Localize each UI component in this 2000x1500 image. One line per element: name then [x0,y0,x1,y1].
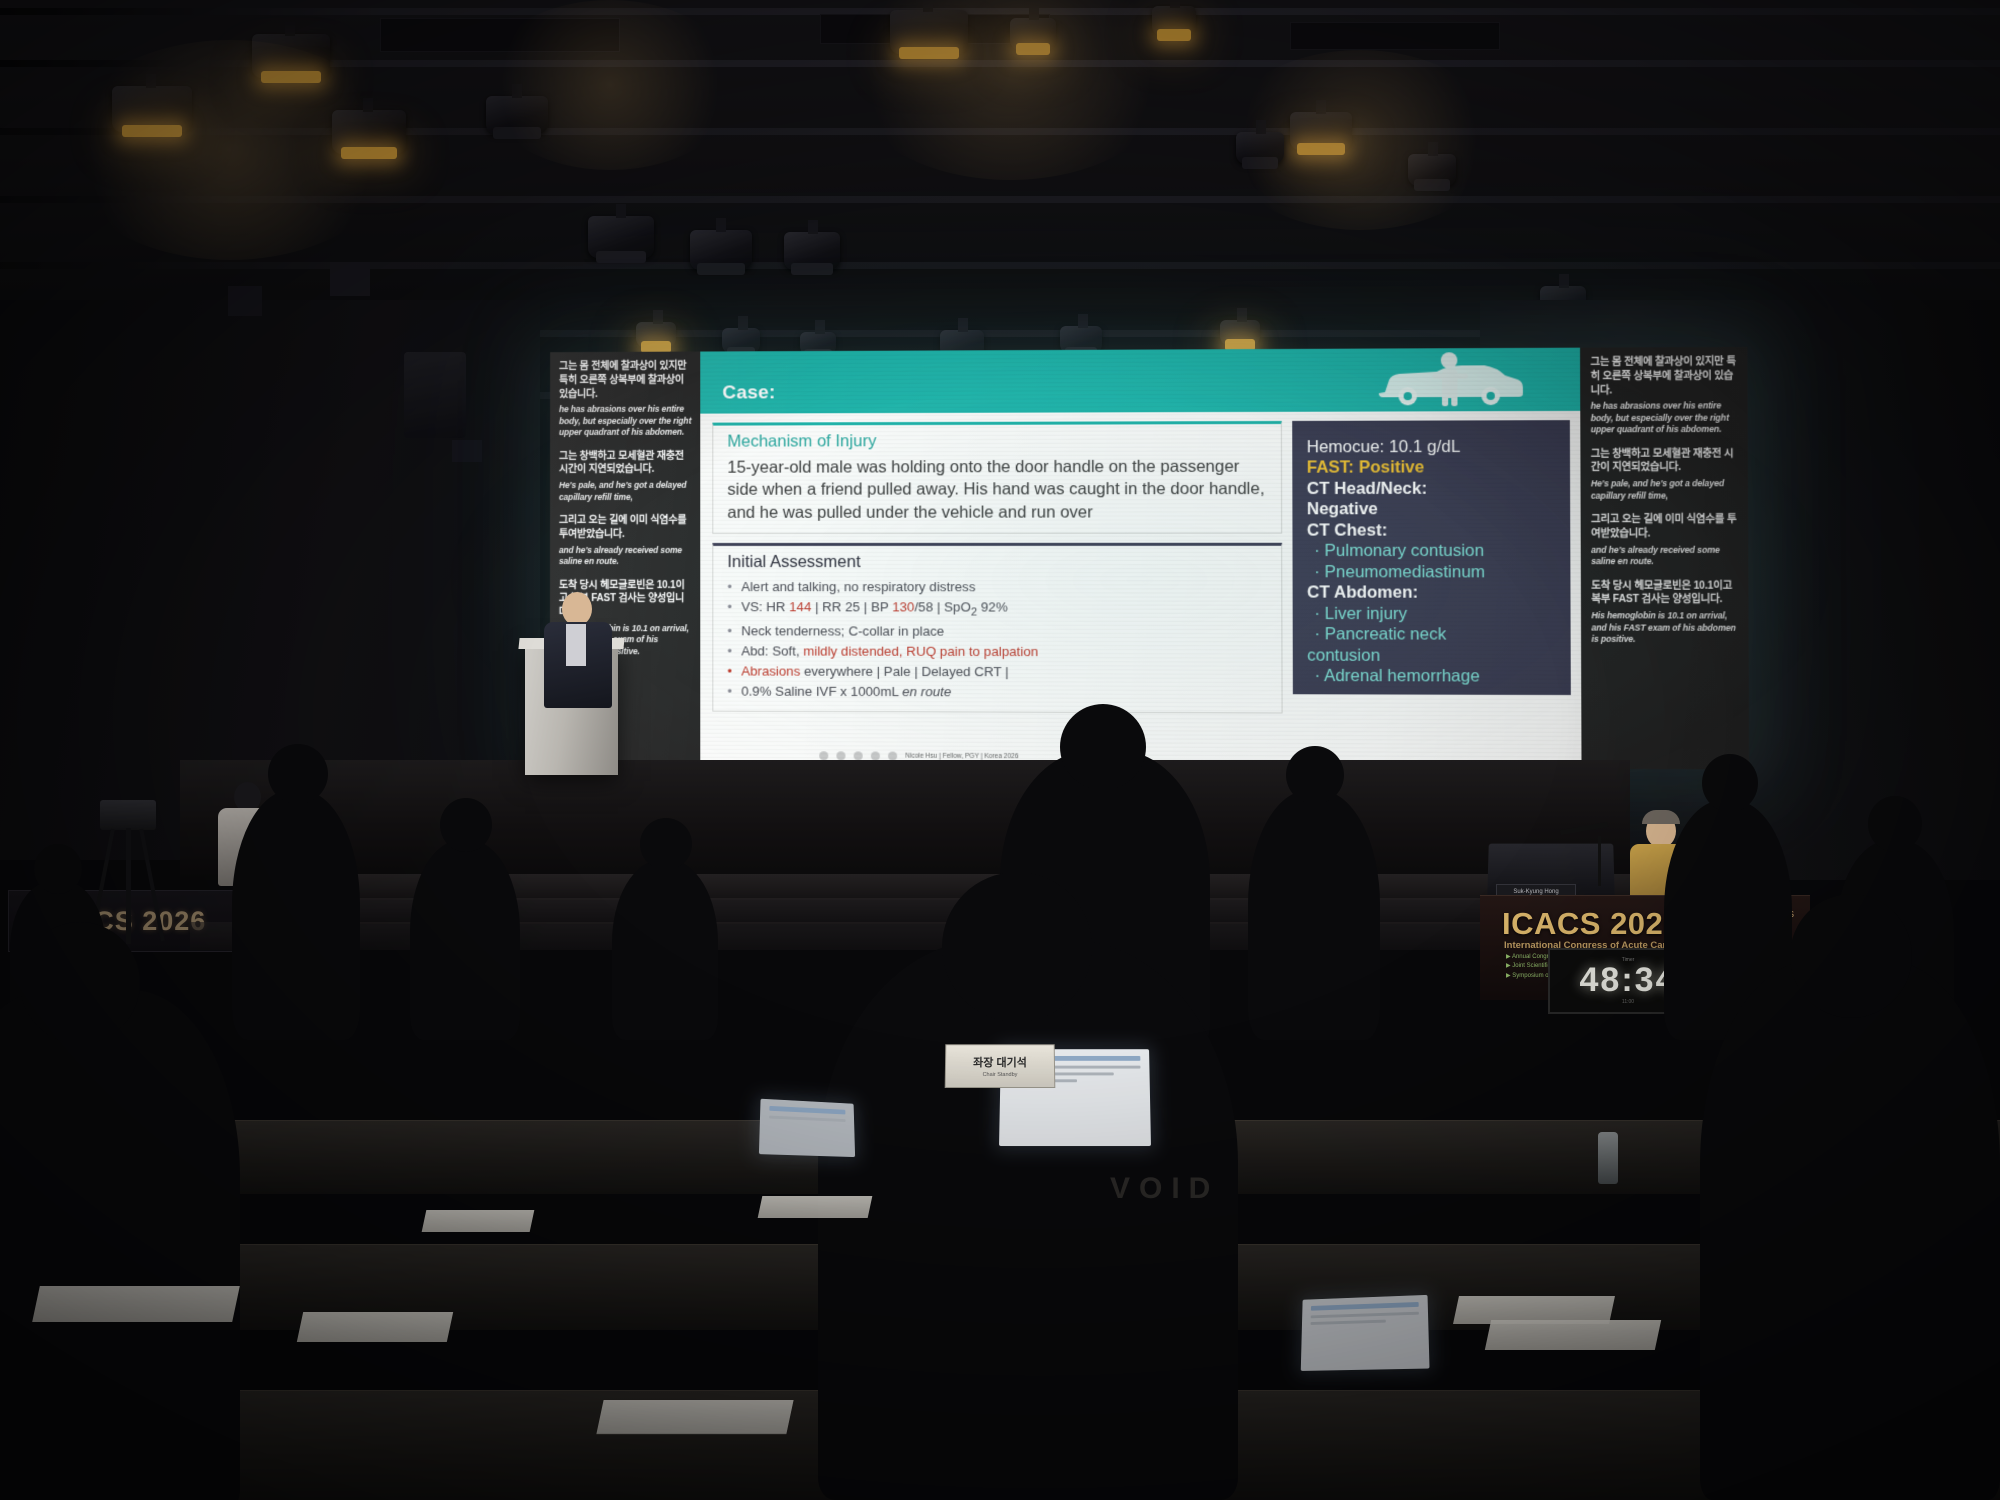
assessment-item: •Abrasions everywhere | Pale | Delayed C… [727,661,1269,683]
stage-spotlight [636,322,676,348]
finding-line: FAST: Positive [1307,457,1560,478]
caption-block: 그는 창백하고 모세혈관 재충전 시간이 지연되었습니다. He's pale,… [1591,447,1741,502]
car-pedestrian-icon [1372,351,1526,414]
desk-paper [297,1312,453,1342]
chair-standby-sign: 좌장 대기석 Chair Standby [945,1044,1056,1088]
assessment-title: Initial Assessment [727,553,1268,572]
imaging-findings-panel: Hemocue: 10.1 g/dLFAST: PositiveCT Head/… [1292,420,1571,695]
assessment-item: •VS: HR 144 | RR 25 | BP 130/58 | SpO2 9… [727,598,1269,622]
mechanism-card: Mechanism of Injury 15-year-old male was… [712,421,1282,534]
footer-icon [871,751,880,760]
audience-member [1248,790,1380,1040]
footer-icon [836,751,845,760]
stage-spotlight [1220,320,1260,346]
presentation-slide: Case: Me [700,348,1581,769]
mechanism-title: Mechanism of Injury [727,431,1268,452]
bullet-icon: • [727,641,732,661]
stage-spotlight [784,232,840,270]
stage-spotlight [1408,154,1456,186]
audience-member-foreground [0,990,240,1500]
finding-line: CT Chest: [1307,520,1560,541]
assessment-item: •Neck tenderness; C-collar in place [727,621,1269,642]
tripod-leg [126,828,131,944]
auditorium-room: ICACS 2026 ICACS 2026 그는 몸 전체에 찰과상이 있지만 … [0,0,2000,1500]
audience-member-head [640,818,692,870]
caption-korean: 그리고 오는 길에 이미 식염수를 투여받았습니다. [1591,513,1741,541]
footer-icon [888,751,897,760]
stage-spotlight [252,34,330,78]
finding-line: CT Head/Neck: [1307,478,1560,499]
finding-line: · Pancreatic neck [1307,624,1560,645]
audience-laptop[interactable] [1301,1295,1430,1371]
stage-spotlight [722,328,760,354]
audience-member-foreground [818,940,1238,1500]
desk-paper [596,1400,793,1434]
stage-spotlight [1290,112,1352,150]
speaker-array [404,352,466,438]
bullet-icon: • [727,661,732,681]
audience-member-head [268,744,328,804]
assessment-item-text: VS: HR 144 | RR 25 | BP 130/58 | SpO2 92… [741,598,1008,622]
chair-standby-english: Chair Standby [983,1072,1018,1078]
caption-korean: 도착 당시 헤모글로빈은 10.1이고 복부 FAST 검사는 양성입니다. [1591,579,1741,607]
audience-member-head [942,872,1092,1022]
finding-line: · Liver injury [1307,603,1560,624]
stage-spotlight [1152,6,1196,36]
stage-spotlight [1236,132,1284,164]
bullet-icon: • [727,681,732,701]
finding-line: Hemocue: 10.1 g/dL [1307,436,1560,457]
caption-korean: 그는 창백하고 모세혈관 재충전 시간이 지연되었습니다. [559,449,693,477]
caption-block: 그는 몸 전체에 찰과상이 있지만 특히 오른쪽 상복부에 찰과상이 있습니다.… [559,360,693,439]
stage-spotlight [588,216,654,258]
audience-member [410,840,520,1040]
stage-spotlight [486,96,548,134]
bullet-icon: • [727,598,732,621]
caption-korean: 그는 몸 전체에 찰과상이 있지만 특히 오른쪽 상복부에 찰과상이 있습니다. [559,360,693,402]
timer-value: 48:34 [1580,963,1677,997]
audience-member-head [1790,894,1912,1018]
floor-letters: VOID [1110,1172,1219,1206]
caption-block: 그는 창백하고 모세혈관 재충전 시간이 지연되었습니다. He's pale,… [559,449,693,503]
caption-english: He's pale, and he's got a delayed capill… [559,480,693,503]
caption-korean: 그는 창백하고 모세혈관 재충전 시간이 지연되었습니다. [1591,447,1741,476]
finding-line: contusion [1307,645,1560,666]
stage-spotlight [890,10,968,54]
audience-member-head [1286,746,1344,804]
stage-spotlight [332,110,406,154]
bullet-icon: • [727,577,732,597]
audience-member [232,790,360,1040]
stage-spotlight [1010,18,1056,50]
audience-member-head [1702,754,1758,812]
bullet-icon: • [727,621,732,641]
audience-member-foreground [1700,960,2000,1500]
microphone-stand [1598,836,1601,886]
assessment-item-text: Alert and talking, no respiratory distre… [741,577,975,597]
caption-english: he has abrasions over his entire body, b… [1591,401,1741,436]
video-camera [100,800,156,830]
desk-paper [422,1210,535,1232]
audience-member-head [20,922,140,1044]
finding-line: · Pneumomediastinum [1307,562,1560,583]
stage-spotlight [690,230,752,270]
caption-column-right: 그는 몸 전체에 찰과상이 있지만 특히 오른쪽 상복부에 찰과상이 있습니다.… [1580,347,1749,770]
water-bottle [1598,1132,1618,1184]
projection-screen: 그는 몸 전체에 찰과상이 있지만 특히 오른쪽 상복부에 찰과상이 있습니다.… [550,347,1749,770]
desk-paper [1485,1320,1661,1350]
finding-line: Negative [1307,499,1560,520]
caption-block: 그는 몸 전체에 찰과상이 있지만 특히 오른쪽 상복부에 찰과상이 있습니다.… [1590,355,1740,436]
assessment-item: •0.9% Saline IVF x 1000mL en route [727,681,1269,703]
audience-member-head [1868,796,1922,852]
caption-block: 도착 당시 헤모글로빈은 10.1이고 복부 FAST 검사는 양성입니다. H… [1591,579,1741,646]
assessment-item-text: 0.9% Saline IVF x 1000mL en route [741,681,951,702]
desk-paper [32,1286,240,1322]
assessment-item: •Alert and talking, no respiratory distr… [727,577,1269,598]
audience-member-head [440,798,492,852]
assessment-item-text: Abd: Soft, mildly distended, RUQ pain to… [741,641,1038,662]
chair-standby-korean: 좌장 대기석 [973,1054,1027,1070]
assessment-list: •Alert and talking, no respiratory distr… [727,577,1269,703]
assessment-item-text: Neck tenderness; C-collar in place [741,621,944,642]
slide-body: Mechanism of Injury 15-year-old male was… [700,411,1581,748]
stage-spotlight [112,86,192,132]
footer-icon [819,751,828,760]
footer-icon [854,751,863,760]
caption-korean: 그리고 오는 길에 이미 식염수를 투여받았습니다. [559,514,693,542]
slide-footer-credit: Nicole Hsu | Fellow, PGY | Korea 2026 [905,752,1018,760]
caption-english: and he's already received some saline en… [559,545,693,568]
caption-english: he has abrasions over his entire body, b… [559,404,693,439]
finding-line: CT Abdomen: [1307,583,1560,604]
wall-fixture [452,440,482,462]
desk-paper [758,1196,873,1218]
finding-line: · Pulmonary contusion [1307,541,1560,562]
caption-english: and he's already received some saline en… [1591,544,1741,567]
head-table-title: ICACS 2026 [1502,906,1681,942]
caption-korean: 그는 몸 전체에 찰과상이 있지만 특히 오른쪽 상복부에 찰과상이 있습니다. [1590,355,1740,398]
assessment-card: Initial Assessment •Alert and talking, n… [712,543,1282,713]
caption-block: 그리고 오는 길에 이미 식염수를 투여받았습니다. and he's alre… [1591,513,1741,568]
stage-floor [180,760,1630,880]
slide-header: Case: [700,348,1580,414]
audience-member-head [34,844,82,894]
audience-laptop[interactable] [759,1099,855,1157]
caption-english: His hemoglobin is 10.1 on arrival, and h… [1591,610,1741,645]
slide-left-column: Mechanism of Injury 15-year-old male was… [712,421,1282,747]
assessment-item: •Abd: Soft, mildly distended, RUQ pain t… [727,641,1269,662]
wall-fixture [228,286,262,316]
audience-member [612,860,718,1040]
slide-case-label: Case: [700,382,775,413]
finding-line: · Adrenal hemorrhage [1307,666,1560,687]
assessment-item-text: Abrasions everywhere | Pale | Delayed CR… [741,661,1009,682]
audience-member-head [1060,704,1146,790]
mechanism-text: 15-year-old male was holding onto the do… [727,455,1268,524]
caption-english: He's pale, and he's got a delayed capill… [1591,478,1741,502]
caption-block: 그리고 오는 길에 이미 식염수를 투여받았습니다. and he's alre… [559,514,693,568]
wall-fixture [330,262,370,296]
